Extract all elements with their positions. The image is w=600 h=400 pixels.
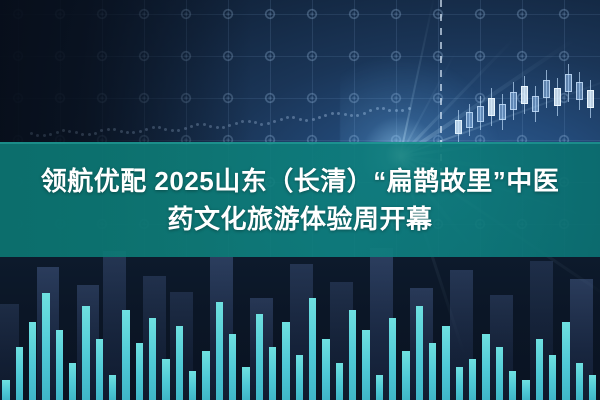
volume-bar [562, 322, 569, 400]
trend-dot [94, 132, 97, 135]
volume-bar [522, 380, 529, 400]
volume-bar [82, 306, 89, 400]
trend-dot [49, 133, 52, 136]
volume-bar [242, 367, 249, 400]
candle-wick [557, 78, 558, 116]
volume-bar [456, 367, 463, 400]
candle-body [477, 106, 484, 122]
volume-bar [29, 322, 36, 400]
volume-bar [16, 347, 23, 400]
candle-body [455, 120, 462, 134]
title-line-1: 领航优配 2025山东（长清）“扁鹊故里”中医 [41, 164, 560, 198]
trend-dot [318, 116, 321, 119]
candle-body [532, 96, 539, 112]
trend-dot [126, 131, 129, 134]
trend-dot [235, 122, 238, 125]
trend-dot [68, 130, 71, 133]
column-bar [450, 270, 473, 400]
trend-dot [337, 112, 340, 115]
candle-wick [469, 104, 470, 136]
volume-bar [202, 351, 209, 400]
column-bar [570, 279, 593, 400]
trend-dot [158, 126, 161, 129]
volume-bar [109, 375, 116, 400]
candle-body [565, 74, 572, 92]
trend-dot [350, 114, 353, 117]
trend-dot [171, 129, 174, 132]
candle-body [543, 80, 550, 98]
column-bar [290, 264, 313, 400]
volume-bar [56, 330, 63, 400]
lower-chart-panel [0, 257, 600, 400]
volume-bar [416, 306, 423, 400]
trend-dot [56, 131, 59, 134]
volume-bar [549, 355, 556, 400]
trend-dot [248, 120, 251, 123]
volume-bar [189, 371, 196, 400]
column-bar [210, 257, 233, 400]
volume-bar [176, 326, 183, 400]
candle-wick [590, 80, 591, 118]
light-ray [399, 49, 457, 156]
trend-dot [228, 124, 231, 127]
volume-bar [376, 375, 383, 400]
trend-dot [382, 107, 385, 110]
trend-dot [100, 129, 103, 132]
column-bar [490, 295, 513, 400]
volume-bar [509, 371, 516, 400]
volume-bar [42, 293, 49, 400]
volume-bar [576, 363, 583, 400]
volume-bar [162, 359, 169, 400]
light-ray [399, 38, 575, 158]
volume-bar [2, 380, 9, 400]
promo-banner: 领航优配 2025山东（长清）“扁鹊故里”中医 药文化旅游体验周开幕 [0, 0, 600, 400]
banner-title: 领航优配 2025山东（长清）“扁鹊故里”中医 药文化旅游体验周开幕 [0, 142, 600, 257]
volume-bar [469, 359, 476, 400]
column-bar [37, 267, 60, 400]
column-bar [530, 261, 553, 400]
trend-dot [164, 128, 167, 131]
volume-bar [309, 298, 316, 400]
volume-bar [96, 339, 103, 400]
light-ray [399, 37, 515, 157]
trend-dot [254, 121, 257, 124]
candle-wick [524, 76, 525, 114]
volume-bar [216, 302, 223, 400]
volume-bar [282, 322, 289, 400]
trend-dot [36, 134, 39, 137]
trend-dot [75, 131, 78, 134]
candle-wick [480, 96, 481, 130]
volume-bar [69, 363, 76, 400]
trend-dot [267, 122, 270, 125]
volume-bar [256, 314, 263, 400]
candle-body [510, 92, 517, 110]
volume-bar [442, 326, 449, 400]
trend-dot [145, 128, 148, 131]
trend-dot [43, 134, 46, 137]
trend-dot [369, 109, 372, 112]
candle-wick [568, 64, 569, 102]
trend-dot [107, 128, 110, 131]
candle-body [466, 112, 473, 128]
candle-body [554, 88, 561, 106]
trend-dot [120, 130, 123, 133]
volume-bar [429, 343, 436, 400]
column-bar [370, 248, 393, 400]
volume-bar [349, 310, 356, 400]
volume-bar [296, 355, 303, 400]
trend-dot [299, 118, 302, 121]
candle-body [488, 98, 495, 116]
trend-dot [88, 133, 91, 136]
candle-wick [535, 86, 536, 122]
trend-dot [132, 131, 135, 134]
trend-dot [222, 126, 225, 129]
volume-bar [336, 363, 343, 400]
volume-bar [362, 330, 369, 400]
trend-dot [331, 112, 334, 115]
trend-dot [209, 125, 212, 128]
candle-wick [502, 94, 503, 130]
trend-dot [356, 114, 359, 117]
trend-dot [62, 129, 65, 132]
trend-dot [401, 109, 404, 112]
trend-dot [324, 114, 327, 117]
trend-dot [139, 130, 142, 133]
volume-bar [496, 347, 503, 400]
trend-dot [344, 113, 347, 116]
volume-bar [589, 375, 596, 400]
volume-bar [269, 347, 276, 400]
trend-dot [190, 125, 193, 128]
candle-wick [513, 82, 514, 120]
light-ray [399, 0, 435, 156]
trend-dot [177, 129, 180, 132]
trend-dot [388, 109, 391, 112]
volume-bar [149, 318, 156, 400]
trend-dot [216, 126, 219, 129]
trend-dot [152, 126, 155, 129]
volume-bar [229, 334, 236, 400]
volume-bar [322, 339, 329, 400]
column-bar [330, 282, 353, 400]
volume-bar [136, 343, 143, 400]
trend-dot [395, 109, 398, 112]
volume-bar [536, 339, 543, 400]
volume-bar [482, 334, 489, 400]
candle-body [521, 86, 528, 104]
candle-body [587, 90, 594, 108]
trend-dot [81, 133, 84, 136]
trend-dot [280, 118, 283, 121]
volume-bar [402, 351, 409, 400]
candle-wick [546, 70, 547, 108]
trend-dot [203, 123, 206, 126]
column-bar [77, 285, 100, 400]
candle-wick [491, 88, 492, 126]
trend-dot [408, 107, 411, 110]
column-bar [170, 292, 193, 400]
trend-dot [184, 127, 187, 130]
trend-dot [113, 128, 116, 131]
volume-bar [122, 310, 129, 400]
column-bar [250, 298, 273, 400]
trend-dot [312, 118, 315, 121]
column-bar [410, 288, 433, 400]
candle-body [576, 82, 583, 100]
trend-dot [30, 132, 33, 135]
trend-dot [376, 107, 379, 110]
trend-dot [286, 116, 289, 119]
trend-dot [292, 116, 295, 119]
trend-dot [260, 123, 263, 126]
trend-dot [241, 120, 244, 123]
trend-dot [305, 119, 308, 122]
trend-dot [273, 120, 276, 123]
volume-bar [389, 318, 396, 400]
candle-wick [458, 110, 459, 142]
column-bar [103, 251, 126, 400]
trend-dot [196, 123, 199, 126]
column-bar [143, 276, 166, 400]
candle-body [499, 104, 506, 120]
column-bar [0, 304, 19, 400]
trend-dot [363, 112, 366, 115]
title-line-2: 药文化旅游体验周开幕 [167, 202, 432, 236]
candle-wick [579, 72, 580, 110]
